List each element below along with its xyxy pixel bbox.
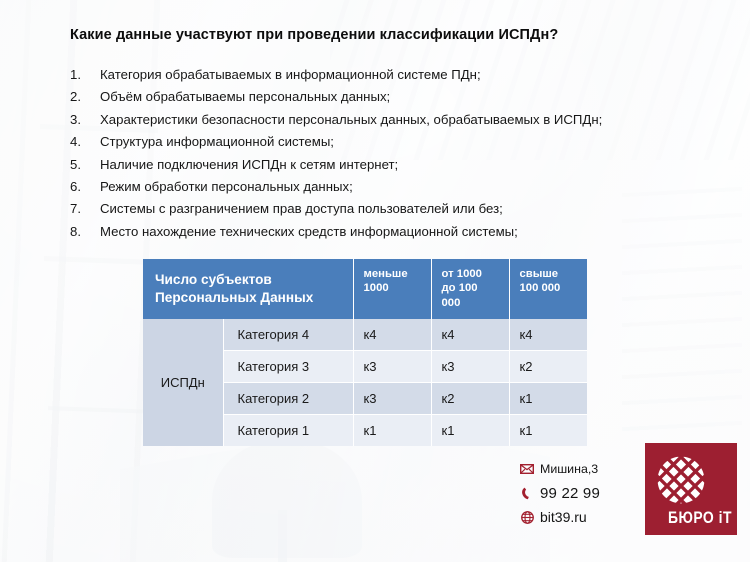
table-header-col-3: свыше 100 000 <box>509 259 587 319</box>
table-header-col-2: от 1000 до 100 000 <box>431 259 509 319</box>
company-logo: БЮРО iT <box>645 443 737 535</box>
list-item-label: Место нахождение технических средств инф… <box>100 225 710 238</box>
list-item-label: Объём обрабатываемы персональных данных; <box>100 90 710 103</box>
table-row-header-ispdn: ИСПДн <box>143 319 223 446</box>
list-item: 1. Категория обрабатываемых в информацио… <box>70 68 710 90</box>
contact-block: Мишина,3 99 22 99 <box>518 457 630 529</box>
contact-website-text[interactable]: bit39.ru <box>536 509 587 525</box>
table-cell-value: к3 <box>353 351 431 383</box>
contact-phone-text: 99 22 99 <box>536 485 600 502</box>
contact-phone-row: 99 22 99 <box>518 481 630 505</box>
contact-address-text: Мишина,3 <box>536 462 598 476</box>
list-item: 3. Характеристики безопасности персональ… <box>70 113 710 135</box>
list-item-number: 7. <box>70 202 100 215</box>
table-cell-value: к1 <box>431 415 509 447</box>
list-item: 8. Место нахождение технических средств … <box>70 225 710 247</box>
list-item-number: 1. <box>70 68 100 81</box>
list-item-label: Системы с разграничением прав доступа по… <box>100 202 710 215</box>
contact-website-row[interactable]: bit39.ru <box>518 505 630 529</box>
list-item-number: 5. <box>70 158 100 171</box>
table-cell-category: Категория 3 <box>223 351 353 383</box>
list-item: 7. Системы с разграничением прав доступа… <box>70 202 710 224</box>
criteria-list: 1. Категория обрабатываемых в информацио… <box>70 68 710 247</box>
table-cell-value: к1 <box>509 415 587 447</box>
list-item-number: 2. <box>70 90 100 103</box>
table-header-col-1: меньше 1000 <box>353 259 431 319</box>
list-item: 5. Наличие подключения ИСПДн к сетям инт… <box>70 158 710 180</box>
list-item-number: 3. <box>70 113 100 126</box>
table-cell-value: к1 <box>353 415 431 447</box>
list-item-label: Структура информационной системы; <box>100 135 710 148</box>
table-header-row: Число субъектов Персональных Данных мень… <box>143 259 587 319</box>
list-item: 2. Объём обрабатываемы персональных данн… <box>70 90 710 112</box>
envelope-icon <box>518 464 536 474</box>
table-cell-value: к4 <box>353 319 431 351</box>
list-item: 6. Режим обработки персональных данных; <box>70 180 710 202</box>
globe-icon <box>518 511 536 524</box>
table-cell-value: к2 <box>431 383 509 415</box>
table-cell-value: к4 <box>431 319 509 351</box>
list-item-number: 8. <box>70 225 100 238</box>
classification-table: Число субъектов Персональных Данных мень… <box>143 259 587 446</box>
phone-icon <box>518 487 536 500</box>
contact-address-row: Мишина,3 <box>518 457 630 481</box>
list-item-number: 6. <box>70 180 100 193</box>
list-item-label: Наличие подключения ИСПДн к сетям интерн… <box>100 158 710 171</box>
table-cell-value: к3 <box>353 383 431 415</box>
table-cell-value: к2 <box>509 351 587 383</box>
presentation-slide: Какие данные участвуют при проведении кл… <box>0 0 750 562</box>
slide-title: Какие данные участвуют при проведении кл… <box>70 26 690 44</box>
table-header-subjects: Число субъектов Персональных Данных <box>143 259 353 319</box>
table-cell-category: Категория 1 <box>223 415 353 447</box>
table-cell-value: к1 <box>509 383 587 415</box>
table-cell-category: Категория 4 <box>223 319 353 351</box>
logo-globe-icon <box>654 451 708 505</box>
list-item-label: Категория обрабатываемых в информационно… <box>100 68 710 81</box>
list-item: 4. Структура информационной системы; <box>70 135 710 157</box>
list-item-label: Режим обработки персональных данных; <box>100 180 710 193</box>
logo-wordmark: БЮРО iT <box>661 508 732 528</box>
list-item-number: 4. <box>70 135 100 148</box>
table-cell-category: Категория 2 <box>223 383 353 415</box>
table-cell-value: к4 <box>509 319 587 351</box>
list-item-label: Характеристики безопасности персональных… <box>100 113 710 126</box>
table-row: ИСПДн Категория 4 к4 к4 к4 <box>143 319 587 351</box>
table-cell-value: к3 <box>431 351 509 383</box>
